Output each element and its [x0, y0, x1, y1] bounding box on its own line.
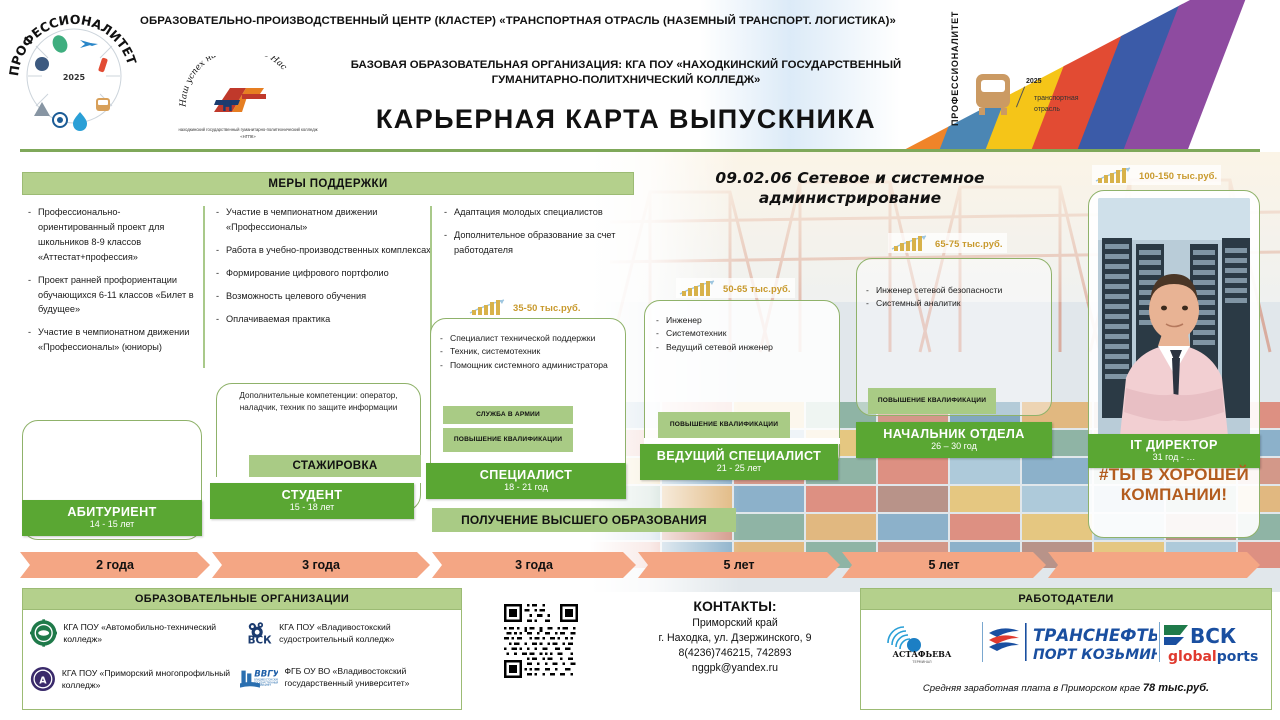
header-cluster-title: ОБРАЗОВАТЕЛЬНО-ПРОИЗВОДСТВЕННЫЙ ЦЕНТР (К… — [140, 14, 930, 28]
average-salary-prefix: Средняя заработная плата в Приморском кр… — [923, 683, 1143, 694]
vsk-globalports-logo: ВСК globalports — [1162, 619, 1268, 665]
stage-age: 18 - 21 год — [504, 482, 548, 493]
average-salary-value: 78 тыс.руб. — [1143, 682, 1209, 694]
stage-it-director[interactable]: IT ДИРЕКТОР 31 год - … — [1088, 434, 1260, 468]
career-map-infographic: ПРОФЕССИОНАЛИТЕТ 2025 — [0, 0, 1280, 720]
salary-chip-lead-specialist: 50-65 тыс.руб. — [676, 278, 795, 298]
specialist-tag-upskilling: ПОВЫШЕНИЕ КВАЛИФИКАЦИИ — [443, 428, 573, 452]
list-item: Дополнительное образование за счет работ… — [444, 228, 644, 258]
support-column-2: Участие в чемпионатном движении «Професс… — [216, 205, 438, 334]
employer-logo-transneft[interactable]: ТРАНСНЕФТЬ ПОРТ КОЗЬМИНО — [983, 619, 1159, 665]
contacts-phone[interactable]: 8(4236)746215, 742893 — [610, 646, 860, 661]
edu-org-name: КГА ПОУ «Автомобильно-технический коллед… — [63, 621, 240, 645]
server-room-portrait-image — [1098, 198, 1250, 436]
salary-chip-head-of-department: 65-75 тыс.руб. — [888, 233, 1007, 253]
list-item: Ведущий сетевой инженер — [656, 341, 836, 353]
edu-org-item-4[interactable]: ВВГУ ВЛАДИВОСТОКСКИЙ ГОСУДАРСТВЕННЫЙ УНИ… — [240, 660, 462, 694]
contacts-region: Приморский край — [610, 616, 860, 631]
stage-abiturient[interactable]: АБИТУРИЕНТ 14 - 15 лет — [22, 500, 202, 536]
svg-text:globalports: globalports — [1168, 649, 1258, 665]
it-director-photo — [1098, 198, 1250, 436]
specialist-tag-army: СЛУЖБА В АРМИИ — [443, 406, 573, 424]
svg-text:2025: 2025 — [63, 73, 86, 82]
brand-year: 2025 — [1026, 78, 1042, 85]
qr-code-icon[interactable] — [504, 604, 578, 678]
stage-age: 26 – 30 год — [931, 441, 977, 452]
edu-org-name: КГА ПОУ «Владивостокский судостроительны… — [279, 621, 462, 645]
stage-age: 15 - 18 лет — [290, 502, 335, 513]
lead-specialist-tag-upskilling: ПОВЫШЕНИЕ КВАЛИФИКАЦИИ — [658, 412, 790, 438]
stage-age: 21 - 25 лет — [717, 463, 762, 474]
header: ПРОФЕССИОНАЛИТЕТ 2025 — [0, 0, 1280, 152]
stage-title: СПЕЦИАЛИСТ — [480, 469, 572, 483]
svg-text:ВВГУ: ВВГУ — [254, 669, 278, 679]
stage-age: 14 - 15 лет — [90, 519, 135, 530]
salary-value: 65-75 тыс.руб. — [935, 238, 1003, 249]
salary-chip-specialist: 35-50 тыс.руб. — [466, 297, 585, 317]
college-logo-caption: находкинский государственный гуманитарно… — [178, 127, 318, 140]
professionalitet-logo: ПРОФЕССИОНАЛИТЕТ 2025 — [8, 6, 140, 138]
growth-chart-icon — [1094, 166, 1136, 184]
nggpk-college-logo: Наш успех начинается с Нас Н находкински… — [178, 56, 318, 142]
list-item: Участие в чемпионатном движении «Професс… — [28, 325, 194, 355]
svg-text:ВСК: ВСК — [1190, 624, 1237, 648]
lead-specialist-roles: Инженер Системотехник Ведущий сетевой ин… — [656, 314, 836, 354]
head-of-department-tag-upskilling: ПОВЫШЕНИЕ КВАЛИФИКАЦИИ — [868, 388, 996, 414]
timeline-segment-5: 5 лет — [842, 552, 1046, 578]
edu-org-name: ФГБ ОУ ВО «Владивостокский государственн… — [284, 665, 462, 689]
list-item: Специалист технической поддержки — [440, 332, 622, 344]
professionalitet-brand: ПРОФЕССИОНАЛИТЕТ 2025 транспортная отрас… — [950, 48, 1100, 128]
list-item: Системотехник — [656, 327, 836, 339]
support-column-3: Адаптация молодых специалистов Дополните… — [444, 205, 644, 266]
brand-industry: транспортная отрасль — [1034, 94, 1098, 115]
svg-text:АСТАФЬЕВА: АСТАФЬЕВА — [893, 649, 952, 659]
hashtag-slogan: #ТЫ В ХОРОШЕЙ КОМПАНИИ! — [1088, 465, 1260, 506]
contacts-address: г. Находка, ул. Дзержинского, 9 — [610, 631, 860, 646]
salary-value: 50-65 тыс.руб. — [723, 283, 791, 294]
stage-age: 31 год - … — [1153, 452, 1196, 463]
growth-chart-icon — [468, 298, 510, 316]
salary-value: 35-50 тыс.руб. — [513, 302, 581, 313]
head-of-department-roles: Инженер сетевой безопасности Системный а… — [866, 284, 1048, 311]
list-item: Адаптация молодых специалистов — [444, 205, 644, 220]
stage-title: АБИТУРИЕНТ — [67, 506, 156, 520]
list-item: Проект ранней профориентации обучающихся… — [28, 273, 194, 318]
svg-text:А: А — [39, 675, 47, 686]
contacts-title: КОНТАКТЫ: — [610, 598, 860, 614]
vvgu-icon: ВВГУ ВЛАДИВОСТОКСКИЙ ГОСУДАРСТВЕННЫЙ УНИ… — [240, 660, 278, 694]
list-item: Участие в чемпионатном движении «Професс… — [216, 205, 438, 235]
edu-org-item-3[interactable]: А КГА ПОУ «Приморский многопрофильный ко… — [30, 664, 242, 694]
stage-title: ВЕДУЩИЙ СПЕЦИАЛИСТ — [657, 450, 822, 464]
list-item: Возможность целевого обучения — [216, 289, 438, 304]
average-salary-note: Средняя заработная плата в Приморском кр… — [862, 682, 1270, 694]
column-divider-1 — [203, 206, 205, 368]
higher-education-bar: ПОЛУЧЕНИЕ ВЫСШЕГО ОБРАЗОВАНИЯ — [432, 508, 736, 532]
contacts-email[interactable]: nggpk@yandex.ru — [610, 661, 860, 676]
student-tag-internship: СТАЖИРОВКА — [249, 455, 421, 477]
page-title: КАРЬЕРНАЯ КАРТА ВЫПУСКНИКА — [316, 104, 936, 135]
employers-header: РАБОТОДАТЕЛИ — [860, 588, 1272, 610]
stage-title: СТУДЕНТ — [282, 489, 343, 503]
list-item: Инженер — [656, 314, 836, 326]
specialty-title: 09.02.06 Сетевое и системное администрир… — [655, 168, 1045, 209]
edu-orgs-header: ОБРАЗОВАТЕЛЬНЫЕ ОРГАНИЗАЦИИ — [22, 588, 462, 610]
timeline-segment-6 — [1048, 552, 1260, 578]
list-item: Формирование цифрового портфолио — [216, 266, 438, 281]
svg-text:ТРАНСНЕФТЬ: ТРАНСНЕФТЬ — [1033, 626, 1157, 645]
salary-value: 100-150 тыс.руб. — [1139, 170, 1217, 181]
growth-chart-icon — [890, 234, 932, 252]
list-item: Профессионально-ориентированный проект д… — [28, 205, 194, 265]
employer-logo-astafieva[interactable]: АСТАФЬЕВА ТЕРМИНАЛ — [862, 619, 982, 665]
timeline-segment-1: 2 года — [20, 552, 210, 578]
employer-logos: АСТАФЬЕВА ТЕРМИНАЛ ТРАНСНЕФТЬ ПОРТ КОЗЬМ… — [862, 616, 1270, 668]
specialist-roles: Специалист технической поддержки Техник,… — [440, 332, 622, 372]
employer-logo-vsk-globalports[interactable]: ВСК globalports — [1160, 619, 1270, 665]
transneft-logo: ТРАНСНЕФТЬ ПОРТ КОЗЬМИНО — [985, 619, 1157, 665]
stage-student[interactable]: СТУДЕНТ 15 - 18 лет — [210, 483, 414, 519]
svg-text:ТЕРМИНАЛ: ТЕРМИНАЛ — [911, 660, 932, 664]
stage-head-of-department[interactable]: НАЧАЛЬНИК ОТДЕЛА 26 – 30 год — [856, 422, 1052, 458]
edu-org-name: КГА ПОУ «Приморский многопрофильный колл… — [62, 667, 242, 691]
svg-text:УНИВЕРСИТЕТ: УНИВЕРСИТЕТ — [254, 684, 271, 687]
brand-slash-divider — [1016, 87, 1026, 108]
support-measures-header: МЕРЫ ПОДДЕРЖКИ — [22, 172, 634, 195]
salary-chip-it-director: 100-150 тыс.руб. — [1092, 165, 1221, 185]
support-column-1: Профессионально-ориентированный проект д… — [28, 205, 194, 363]
stage-lead-specialist[interactable]: ВЕДУЩИЙ СПЕЦИАЛИСТ 21 - 25 лет — [640, 444, 838, 480]
svg-text:Н: Н — [222, 100, 233, 115]
list-item: Инженер сетевой безопасности — [866, 284, 1048, 296]
growth-chart-icon — [678, 279, 720, 297]
stage-specialist[interactable]: СПЕЦИАЛИСТ 18 - 21 год — [426, 463, 626, 499]
astafieva-logo: АСТАФЬЕВА ТЕРМИНАЛ — [874, 619, 970, 665]
vsk-gears-icon: ВСК — [246, 618, 273, 648]
additional-competencies-text: Дополнительные компетенции: оператор, на… — [222, 390, 415, 415]
list-item: Работа в учебно-производственных комплек… — [216, 243, 438, 258]
timeline-segment-4: 5 лет — [638, 552, 840, 578]
bus-icon — [972, 70, 1014, 116]
edu-org-item-2[interactable]: ВСК КГА ПОУ «Владивостокский судостроите… — [246, 618, 462, 648]
timeline-segment-2: 3 года — [212, 552, 430, 578]
stage-title: IT ДИРЕКТОР — [1130, 439, 1218, 453]
list-item: Помощник системного администратора — [440, 359, 622, 371]
svg-text:ВСК: ВСК — [248, 634, 272, 646]
list-item: Оплачиваемая практика — [216, 312, 438, 327]
contacts-block: КОНТАКТЫ: Приморский край г. Находка, ул… — [610, 598, 860, 676]
list-item: Системный аналитик — [866, 297, 1048, 309]
brand-vertical-word: ПРОФЕССИОНАЛИТЕТ — [950, 50, 960, 126]
stage-title: НАЧАЛЬНИК ОТДЕЛА — [883, 428, 1024, 442]
timeline-segment-3: 3 года — [432, 552, 636, 578]
edu-org-item-1[interactable]: КГА ПОУ «Автомобильно-технический коллед… — [30, 618, 240, 648]
svg-text:ПОРТ КОЗЬМИНО: ПОРТ КОЗЬМИНО — [1033, 647, 1157, 663]
professionalitet-arc-text-icon: ПРОФЕССИОНАЛИТЕТ 2025 — [8, 6, 140, 138]
gear-emblem-icon — [30, 618, 57, 648]
round-emblem-icon: А — [30, 664, 56, 694]
header-base-org: БАЗОВАЯ ОБРАЗОВАТЕЛЬНАЯ ОРГАНИЗАЦИЯ: КГА… — [316, 58, 936, 89]
list-item: Техник, системотехник — [440, 345, 622, 357]
